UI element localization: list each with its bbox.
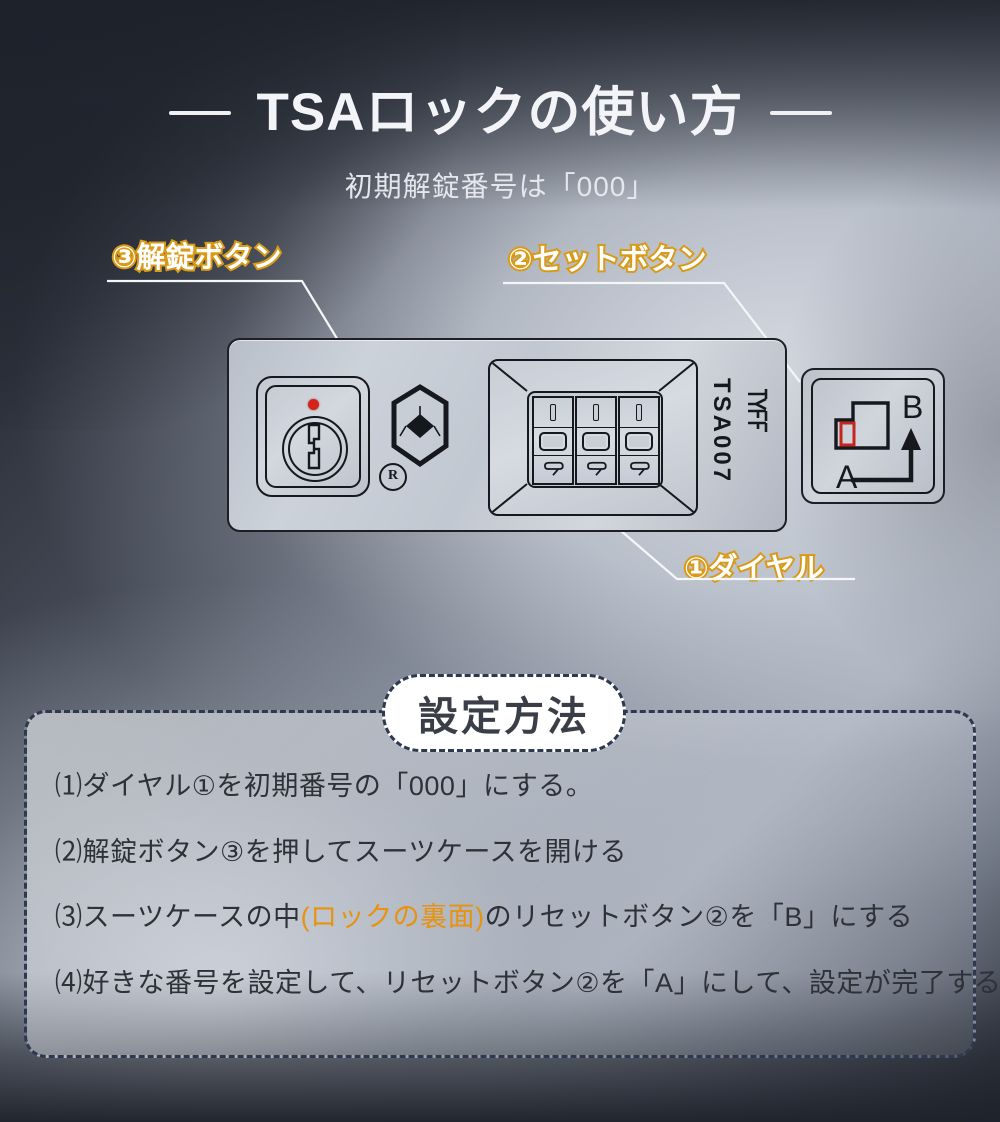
step-3-suffix: のリセットボタン②を「B」にする (485, 902, 913, 932)
step-3-highlight: (ロックの裏面) (301, 902, 485, 932)
dial-wheel-3[interactable] (618, 396, 660, 485)
section-heading-pill: 設定方法 (382, 674, 626, 752)
digit-zero-glyph (539, 432, 567, 451)
callout-set-button: ②セットボタン (508, 236, 707, 278)
label-b: B (902, 389, 923, 425)
callout-unlock-button: ③解錠ボタン (112, 234, 282, 276)
instruction-step-1: ⑴ダイヤル①を初期番号の「000」にする。 (55, 772, 955, 802)
set-button-diagram: A B (803, 370, 943, 502)
page-subtitle: 初期解錠番号は「000」 (0, 165, 1000, 205)
led-indicator (308, 399, 319, 410)
dial-window (527, 391, 663, 488)
lock-body: R (227, 338, 787, 532)
lock-model-number: TSA007 (707, 378, 735, 484)
dial-wheel-3-top (620, 399, 658, 426)
title-dash-right (770, 111, 832, 115)
dial-wheel-2-top (577, 399, 615, 426)
callout-dial: ①ダイヤル (684, 545, 824, 587)
brand-logo-icon (737, 382, 777, 440)
dial-wheel-3-selected (620, 427, 658, 456)
label-a: A (836, 459, 858, 495)
instruction-step-3: ⑶スーツケースの中(ロックの裏面)のリセットボタン②を「B」にする (55, 903, 955, 933)
step-1-prefix: ⑴ダイヤル①を初期番号の「000」にする。 (55, 771, 593, 801)
tsa-hexagon-logo-icon (389, 384, 451, 468)
digit-one-glyph (636, 404, 642, 421)
step-3-prefix: ⑶スーツケースの中 (55, 902, 301, 932)
digit-nine-glyph (584, 461, 608, 477)
page-title: TSAロックの使い方 (257, 86, 744, 139)
digit-zero-glyph (625, 432, 653, 451)
dial-wheel-1[interactable] (532, 396, 574, 485)
dial-wheel-1-top (534, 399, 572, 426)
section-heading: 設定方法 (418, 684, 590, 742)
digit-nine-glyph (627, 461, 651, 477)
unlock-button[interactable] (256, 376, 370, 497)
digit-nine-glyph (541, 461, 565, 477)
slider-position-indicator (841, 423, 854, 445)
dial-assembly[interactable] (488, 359, 698, 516)
page-title-row: TSAロックの使い方 (0, 86, 1000, 139)
dial-wheel-1-selected (534, 427, 572, 456)
dial-wheel-3-bottom (620, 455, 658, 482)
dial-wheel-2[interactable] (575, 396, 617, 485)
set-button-panel[interactable]: A B (801, 368, 945, 504)
dial-wheel-2-selected (577, 427, 615, 456)
dial-wheel-1-bottom (534, 455, 572, 482)
step-2-prefix: ⑵解錠ボタン③を押してスーツケースを開ける (55, 837, 627, 867)
digit-one-glyph (593, 404, 599, 421)
digit-zero-glyph (582, 432, 610, 451)
dial-wheel-2-bottom (577, 455, 615, 482)
title-dash-left (169, 111, 231, 115)
registered-trademark-icon: R (379, 463, 407, 491)
digit-one-glyph (550, 404, 556, 421)
instruction-list: ⑴ダイヤル①を初期番号の「000」にする。 ⑵解錠ボタン③を押してスーツケースを… (55, 772, 955, 1035)
tsa-lock-instruction-page: TSAロックの使い方 初期解錠番号は「000」 ③解錠ボタン ②セットボタン ①… (0, 0, 1000, 1122)
instruction-step-2: ⑵解錠ボタン③を押してスーツケースを開ける (55, 838, 955, 868)
instruction-step-4: ⑷好きな番号を設定して、リセットボタン②を「A」にして、設定が完了する (55, 969, 955, 999)
keyhole-icon (303, 423, 325, 473)
step-4-prefix: ⑷好きな番号を設定して、リセットボタン②を「A」にして、設定が完了する (55, 968, 1000, 998)
